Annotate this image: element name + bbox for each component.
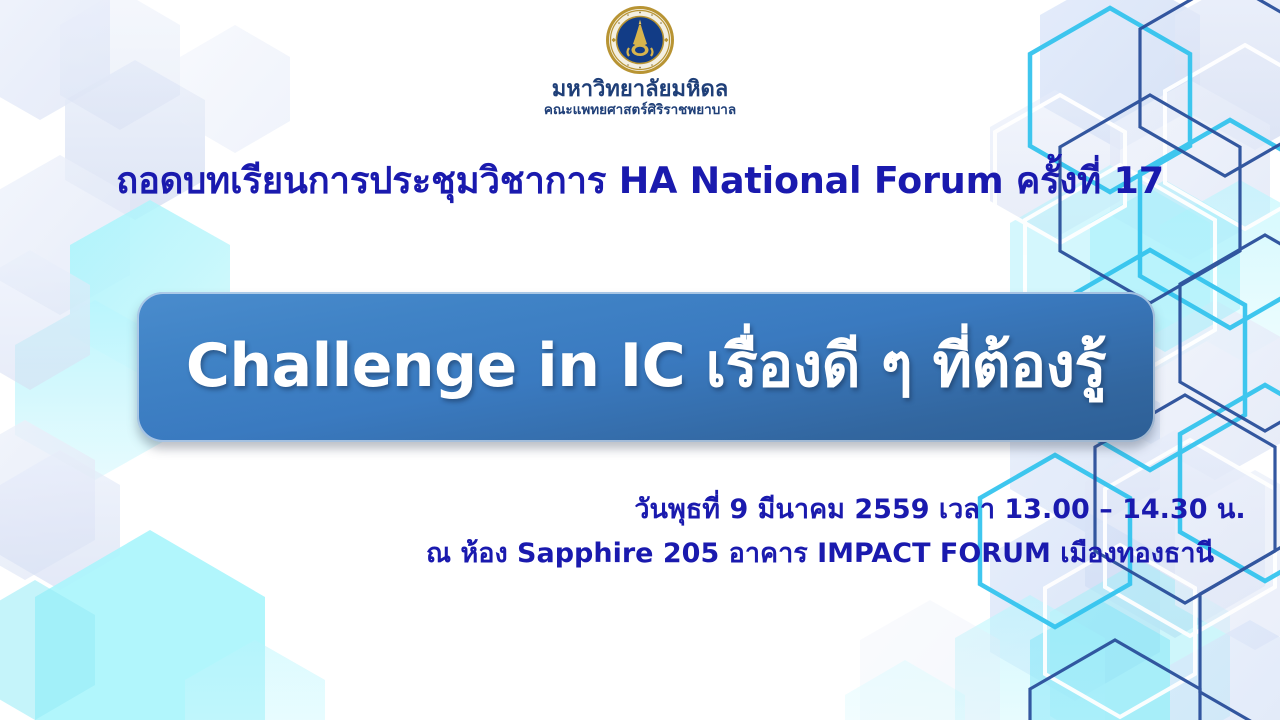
title-banner: Challenge in IC เรื่องดี ๆ ที่ต้องรู้ bbox=[137, 292, 1155, 442]
banner-title-text: Challenge in IC เรื่องดี ๆ ที่ต้องรู้ bbox=[186, 318, 1106, 417]
logo-university-name: มหาวิทยาลัยมหิดล bbox=[0, 78, 1280, 102]
institution-logo: มหาวิทยาลัยมหิดล คณะแพทยศาสตร์ศิริราชพยา… bbox=[0, 4, 1280, 118]
event-date-time: วันพุธที่ 9 มีนาคม 2559 เวลา 13.00 – 14.… bbox=[0, 487, 1280, 530]
mahidol-university-seal-icon bbox=[604, 4, 676, 76]
event-venue: ณ ห้อง Sapphire 205 อาคาร IMPACT FORUM เ… bbox=[0, 531, 1280, 574]
presentation-slide: มหาวิทยาลัยมหิดล คณะแพทยศาสตร์ศิริราชพยา… bbox=[0, 0, 1280, 720]
slide-headline: ถอดบทเรียนการประชุมวิชาการ HA National F… bbox=[0, 152, 1280, 210]
logo-faculty-name: คณะแพทยศาสตร์ศิริราชพยาบาล bbox=[0, 103, 1280, 119]
